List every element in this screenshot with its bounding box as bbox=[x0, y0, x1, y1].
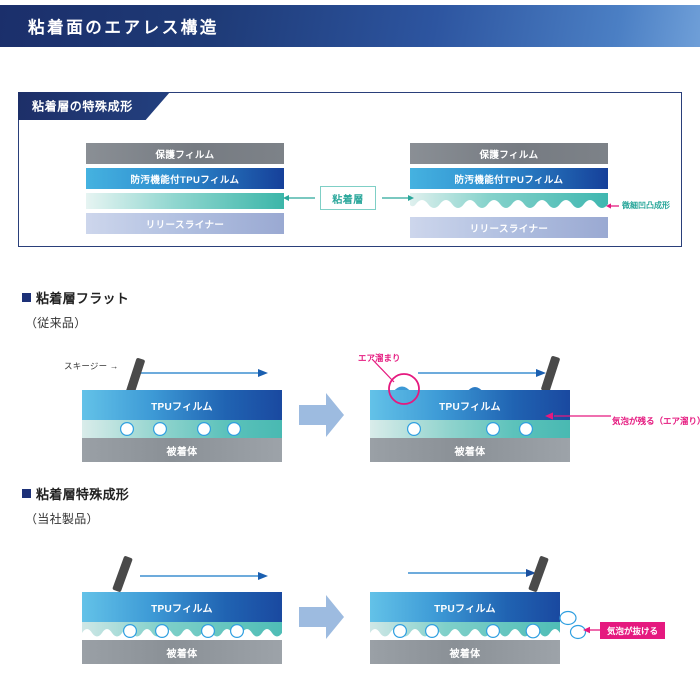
layer-tpu-film-label: 防汚機能付TPUフィルム bbox=[455, 172, 564, 186]
panel-film-label: TPUフィルム bbox=[151, 398, 213, 413]
arrow-right-icon bbox=[382, 192, 414, 204]
layer-adhesive-embossed bbox=[410, 193, 608, 213]
motion-arrow-icon bbox=[140, 570, 268, 582]
air-pocket-marker-icon bbox=[358, 355, 438, 407]
page-title: 粘着面のエアレス構造 bbox=[28, 14, 219, 38]
layer-tpu-film: 防汚機能付TPUフィルム bbox=[86, 168, 284, 189]
panel-film-label: TPUフィルム bbox=[151, 600, 213, 615]
squeegee-icon bbox=[112, 556, 133, 593]
panel-special-before: TPUフィルム 被着体 bbox=[82, 592, 282, 664]
page-header-banner: 粘着面のエアレス構造 bbox=[0, 5, 700, 47]
layer-release-liner: リリースライナー bbox=[86, 213, 284, 234]
card-tab: 粘着層の特殊成形 bbox=[18, 92, 170, 120]
layer-release-liner: リリースライナー bbox=[410, 217, 608, 238]
panel-substrate-label: 被着体 bbox=[450, 645, 481, 660]
layer-protect-film-label: 保護フィルム bbox=[155, 147, 214, 161]
process-arrow-icon bbox=[299, 595, 344, 639]
emboss-annotation: 微細凹凸成形 bbox=[606, 200, 670, 211]
panel-film-layer: TPUフィルム bbox=[82, 592, 282, 622]
bubble-escape-annotation-label: 気泡が抜ける bbox=[607, 625, 658, 637]
panel-film-layer: TPUフィルム bbox=[82, 390, 282, 420]
layer-adhesive-flat bbox=[86, 193, 284, 209]
layer-protect-film: 保護フィルム bbox=[410, 143, 608, 164]
escaping-bubbles-icon bbox=[370, 622, 560, 640]
panel-adhesive-layer bbox=[82, 420, 282, 438]
section-heading-flat: 粘着層フラット （従来品） bbox=[22, 288, 129, 331]
trapped-bubbles-icon bbox=[370, 420, 570, 438]
motion-arrow-icon bbox=[140, 367, 268, 379]
section-special-subtitle: （当社製品） bbox=[25, 510, 129, 527]
arrow-left-icon bbox=[283, 192, 315, 204]
adhesive-layer-callout-label: 粘着層 bbox=[332, 191, 364, 206]
emboss-annotation-label: 微細凹凸成形 bbox=[622, 200, 670, 211]
panel-substrate-label: 被着体 bbox=[167, 443, 198, 458]
panel-film-layer: TPUフィルム bbox=[370, 592, 560, 622]
bullet-square-icon bbox=[22, 293, 31, 302]
layer-stack-flat: 保護フィルム 防汚機能付TPUフィルム リリースライナー bbox=[86, 143, 284, 234]
panel-special-after: TPUフィルム 被着体 bbox=[370, 592, 560, 664]
panel-film-label: TPUフィルム bbox=[439, 398, 501, 413]
card-tab-label: 粘着層の特殊成形 bbox=[32, 98, 133, 115]
panel-adhesive-layer bbox=[370, 420, 570, 438]
wave-shape-icon bbox=[370, 622, 560, 640]
panel-substrate-layer: 被着体 bbox=[370, 640, 560, 664]
wave-shape-icon bbox=[410, 193, 608, 213]
trapped-bubbles-icon bbox=[82, 420, 282, 438]
section-special-title: 粘着層特殊成形 bbox=[36, 484, 129, 503]
panel-film-label: TPUフィルム bbox=[434, 600, 496, 615]
panel-adhesive-embossed-layer bbox=[370, 622, 560, 640]
layer-tpu-film-label: 防汚機能付TPUフィルム bbox=[131, 172, 240, 186]
panel-flat-before: TPUフィルム 被着体 bbox=[82, 390, 282, 462]
panel-substrate-layer: 被着体 bbox=[82, 640, 282, 664]
adhesive-layer-callout: 粘着層 bbox=[320, 186, 376, 210]
layer-release-liner-label: リリースライナー bbox=[146, 217, 225, 231]
layer-stack-embossed: 保護フィルム 防汚機能付TPUフィルム リリースライナー bbox=[410, 143, 608, 238]
layer-release-liner-label: リリースライナー bbox=[470, 221, 549, 235]
layer-tpu-film: 防汚機能付TPUフィルム bbox=[410, 168, 608, 189]
panel-substrate-layer: 被着体 bbox=[370, 438, 570, 462]
panel-substrate-label: 被着体 bbox=[167, 645, 198, 660]
panel-adhesive-embossed-layer bbox=[82, 622, 282, 640]
section-heading-special: 粘着層特殊成形 （当社製品） bbox=[22, 484, 129, 527]
section-flat-title: 粘着層フラット bbox=[36, 288, 129, 307]
wave-shape-icon bbox=[82, 622, 282, 640]
process-arrow-icon bbox=[299, 393, 344, 437]
arrow-left-magenta-icon bbox=[545, 410, 611, 422]
trapped-bubbles-icon bbox=[82, 622, 282, 640]
section-flat-subtitle: （従来品） bbox=[25, 314, 129, 331]
panel-substrate-label: 被着体 bbox=[455, 443, 486, 458]
squeegee-label-text: スキージー → bbox=[64, 360, 119, 372]
layer-protect-film: 保護フィルム bbox=[86, 143, 284, 164]
bullet-square-icon bbox=[22, 489, 31, 498]
panel-substrate-layer: 被着体 bbox=[82, 438, 282, 462]
squeegee-label: スキージー → bbox=[64, 360, 119, 372]
layer-protect-film-label: 保護フィルム bbox=[479, 147, 538, 161]
arrow-left-red-icon bbox=[606, 201, 619, 211]
bubble-escape-annotation: 気泡が抜ける bbox=[600, 622, 665, 639]
air-remain-annotation: 気泡が残る（エア溜り） bbox=[612, 411, 700, 429]
motion-arrow-icon bbox=[408, 567, 536, 579]
air-remain-annotation-label: 気泡が残る（エア溜り） bbox=[612, 416, 700, 426]
